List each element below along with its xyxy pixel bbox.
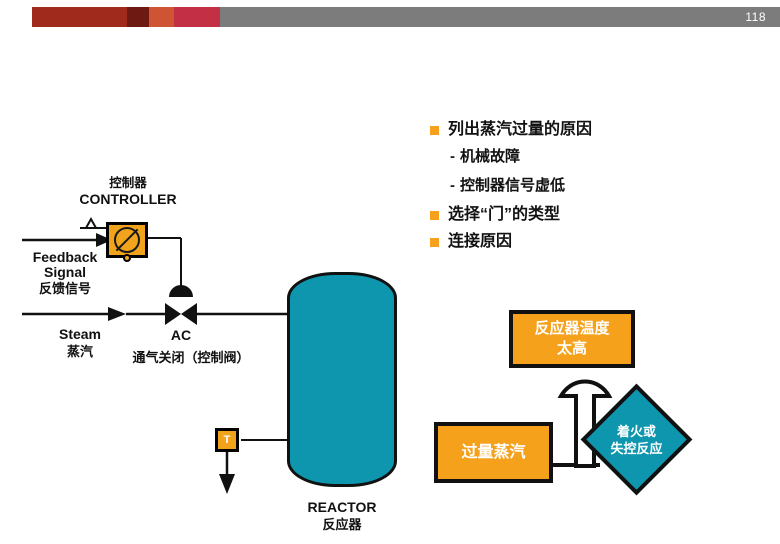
valve-caption: 通气关闭（控制阀） (116, 350, 266, 365)
feedback-label-line2: Signal (22, 265, 108, 280)
fire-label-line2: 失控反应 (610, 440, 662, 457)
feedback-label-cn: 反馈信号 (22, 281, 108, 296)
fire-or-runaway-label: 着火或 失控反应 (597, 400, 676, 479)
steam-arrow-icon (108, 307, 126, 321)
controller-symbol (106, 222, 148, 258)
temperature-sensor: T (215, 428, 239, 452)
control-valve-symbol (165, 303, 197, 325)
valve-triangle-left-icon (165, 303, 181, 325)
sensor-arrow-icon (219, 474, 235, 494)
reactor-label-en: REACTOR (287, 500, 397, 515)
controller-stem-icon (123, 254, 131, 262)
excess-steam-box: 过量蒸汽 (434, 422, 553, 483)
reactor-temp-line2: 太高 (534, 339, 609, 359)
setpoint-caret-icon (86, 219, 96, 228)
valve-actuator-icon (169, 285, 193, 297)
feedback-label-line1: Feedback (22, 250, 108, 265)
controller-label-en: CONTROLLER (64, 192, 192, 207)
valve-stem-icon (180, 253, 182, 288)
reactor-temp-line1: 反应器温度 (534, 319, 609, 339)
valve-triangle-right-icon (181, 303, 197, 325)
steam-label-en: Steam (42, 327, 118, 342)
reactor-label-cn: 反应器 (287, 517, 397, 532)
steam-label-cn: 蒸汽 (42, 344, 118, 359)
reactor-temperature-box: 反应器温度 太高 (509, 310, 635, 368)
reactor-vessel (287, 272, 397, 487)
valve-tag: AC (156, 328, 206, 343)
controller-label-cn: 控制器 (72, 176, 184, 191)
fire-label-line1: 着火或 (610, 423, 662, 440)
process-flow-diagram: 控制器 CONTROLLER Feedback Signal 反馈信号 Stea… (0, 0, 780, 544)
